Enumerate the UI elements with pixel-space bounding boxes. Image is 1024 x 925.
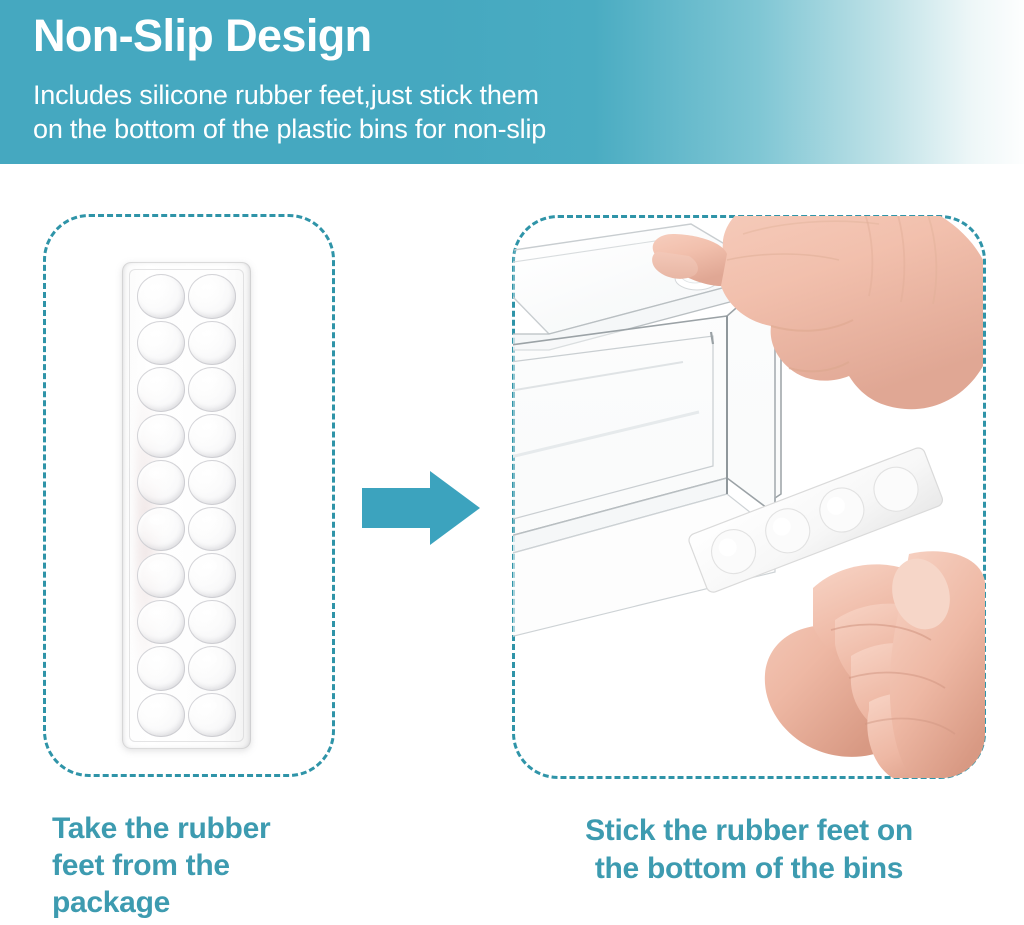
bin-and-hands-illustration (513, 216, 985, 778)
rubber-foot-dot (188, 321, 236, 366)
header-subtitle-line-1: Includes silicone rubber feet,just stick… (33, 78, 539, 112)
rubber-foot-dot (137, 600, 185, 645)
rubber-foot-dot (188, 507, 236, 552)
flow-arrow (360, 466, 482, 550)
rubber-foot-dot (137, 367, 185, 412)
page-title: Non-Slip Design (33, 8, 372, 64)
header-subtitle-line-2: on the bottom of the plastic bins for no… (33, 112, 546, 146)
rubber-foot-dot (188, 460, 236, 505)
step-2-caption-line-2: the bottom of the bins (512, 850, 986, 888)
arrow-right-icon (360, 466, 482, 550)
rubber-foot-dot (137, 507, 185, 552)
step-2-photo (513, 216, 985, 778)
rubber-foot-dot (188, 414, 236, 459)
rubber-foot-dot (188, 646, 236, 691)
rubber-foot-dot (188, 693, 236, 738)
rubber-foot-dot (137, 321, 185, 366)
blister-pack (122, 262, 251, 749)
rubber-foot-dot (188, 274, 236, 319)
rubber-foot-dot (137, 693, 185, 738)
step-1-caption-line-2: feet from the (52, 847, 352, 884)
step-1-caption: Take the rubber feet from the package (52, 810, 352, 921)
step-2-caption-line-1: Stick the rubber feet on (512, 812, 986, 850)
rubber-foot-dot (137, 414, 185, 459)
rubber-foot-dot (188, 600, 236, 645)
rubber-foot-dot (137, 553, 185, 598)
rubber-foot-dot (188, 553, 236, 598)
step-1-caption-line-1: Take the rubber (52, 810, 352, 847)
rubber-foot-dot (188, 367, 236, 412)
hand-holding-strip (687, 446, 985, 778)
rubber-foot-dot (137, 646, 185, 691)
step-1-caption-line-3: package (52, 884, 352, 921)
header-banner: Non-Slip Design Includes silicone rubber… (0, 0, 1024, 164)
rubber-feet-dot-grid (137, 274, 236, 737)
rubber-foot-dot (137, 460, 185, 505)
rubber-foot-dot (137, 274, 185, 319)
step-2-caption: Stick the rubber feet on the bottom of t… (512, 812, 986, 888)
